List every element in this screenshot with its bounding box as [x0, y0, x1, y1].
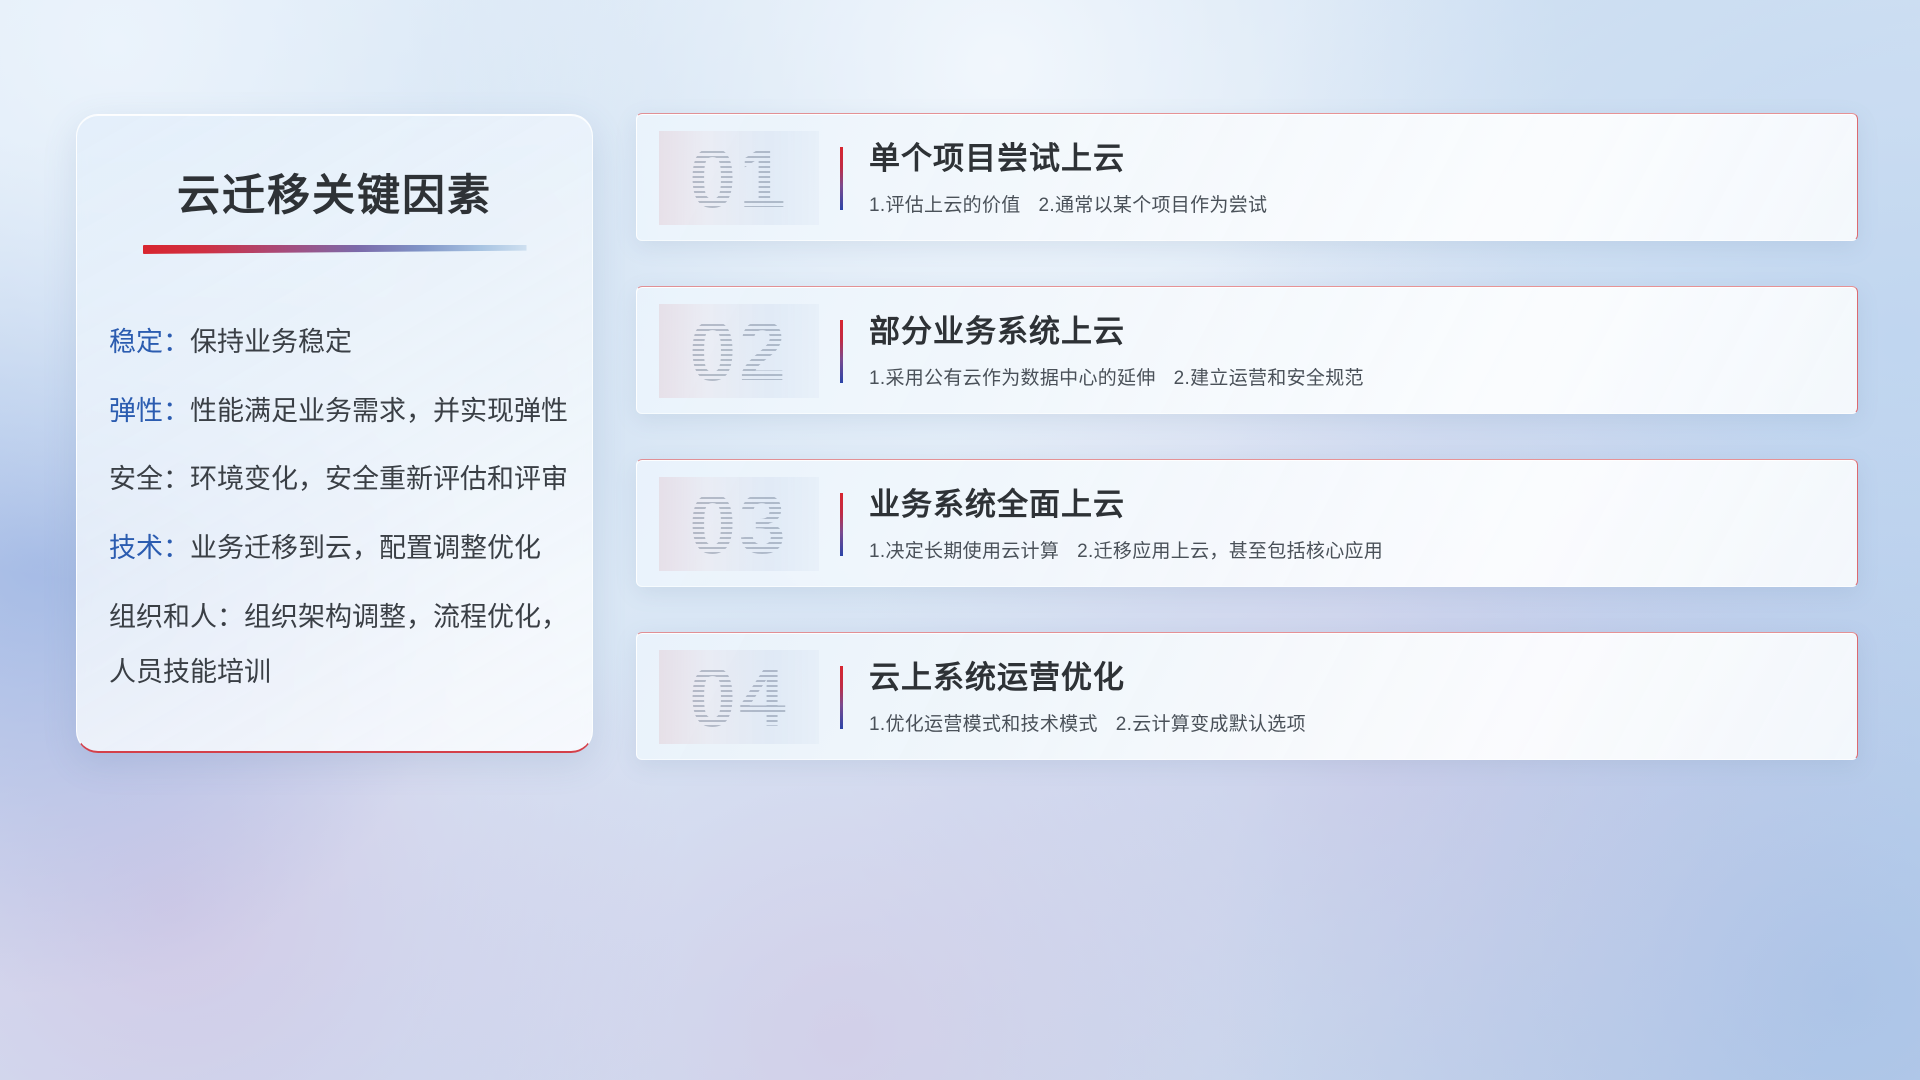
stage-point-1: 1.评估上云的价值 — [869, 195, 1021, 216]
stage-number: 03 — [659, 477, 819, 571]
list-item: 安全：环境变化，安全重新评估和评审 — [109, 465, 592, 495]
stage-number: 01 — [659, 131, 819, 225]
list-item: 稳定：保持业务稳定 — [109, 328, 592, 358]
divider-bar — [840, 493, 843, 556]
factor-label: 安全： — [109, 464, 190, 494]
stage-title: 部分业务系统上云 — [869, 313, 1833, 350]
factor-text: 人员技能培训 — [109, 657, 271, 687]
list-item: 人员技能培训 — [109, 658, 592, 688]
stage-points: 1.决定长期使用云计算2.迁移应用上云，甚至包括核心应用 — [869, 536, 1833, 563]
title-gradient-rule — [143, 245, 527, 254]
stage-cards: 01 单个项目尝试上云 1.评估上云的价值2.通常以某个项目作为尝试 02 部分… — [636, 113, 1858, 760]
stage-point-1: 1.优化运营模式和技术模式 — [869, 714, 1098, 735]
factors-list: 稳定：保持业务稳定 弹性：性能满足业务需求，并实现弹性 安全：环境变化，安全重新… — [109, 328, 592, 688]
stage-card[interactable]: 02 部分业务系统上云 1.采用公有云作为数据中心的延伸2.建立运营和安全规范 — [636, 286, 1858, 414]
factor-text: 业务迁移到云，配置调整优化 — [190, 533, 541, 563]
stage-card[interactable]: 01 单个项目尝试上云 1.评估上云的价值2.通常以某个项目作为尝试 — [636, 113, 1858, 241]
stage-number: 04 — [659, 650, 819, 744]
stage-point-1: 1.采用公有云作为数据中心的延伸 — [869, 368, 1156, 389]
factor-text: 保持业务稳定 — [190, 327, 352, 357]
factor-label: 技术： — [109, 533, 190, 563]
divider-bar — [840, 666, 843, 729]
stage-point-1: 1.决定长期使用云计算 — [869, 541, 1059, 562]
list-item: 技术：业务迁移到云，配置调整优化 — [109, 534, 592, 564]
stage-body: 业务系统全面上云 1.决定长期使用云计算2.迁移应用上云，甚至包括核心应用 — [869, 486, 1833, 563]
stage-point-2: 2.云计算变成默认选项 — [1116, 714, 1306, 735]
stage-points: 1.采用公有云作为数据中心的延伸2.建立运营和安全规范 — [869, 363, 1833, 390]
list-item: 组织和人：组织架构调整，流程优化， — [109, 603, 592, 633]
stage-body: 部分业务系统上云 1.采用公有云作为数据中心的延伸2.建立运营和安全规范 — [869, 313, 1833, 390]
stage-point-2: 2.迁移应用上云，甚至包括核心应用 — [1077, 541, 1383, 562]
stage-number: 02 — [659, 304, 819, 398]
stage-points: 1.优化运营模式和技术模式2.云计算变成默认选项 — [869, 709, 1833, 736]
page-title: 云迁移关键因素 — [77, 161, 592, 223]
stage-title: 单个项目尝试上云 — [869, 140, 1833, 177]
factor-label: 稳定： — [109, 327, 190, 357]
stage-title: 业务系统全面上云 — [869, 486, 1833, 523]
factor-text: 性能满足业务需求，并实现弹性 — [190, 396, 568, 426]
stage-body: 单个项目尝试上云 1.评估上云的价值2.通常以某个项目作为尝试 — [869, 140, 1833, 217]
divider-bar — [840, 147, 843, 210]
key-factors-panel: 云迁移关键因素 稳定：保持业务稳定 弹性：性能满足业务需求，并实现弹性 安全：环… — [76, 114, 593, 753]
stage-body: 云上系统运营优化 1.优化运营模式和技术模式2.云计算变成默认选项 — [869, 659, 1833, 736]
factor-text: 环境变化，安全重新评估和评审 — [190, 464, 568, 494]
stage-title: 云上系统运营优化 — [869, 659, 1833, 696]
stage-card[interactable]: 03 业务系统全面上云 1.决定长期使用云计算2.迁移应用上云，甚至包括核心应用 — [636, 459, 1858, 587]
factor-label: 弹性： — [109, 396, 190, 426]
stage-point-2: 2.建立运营和安全规范 — [1174, 368, 1364, 389]
factor-label: 组织和人： — [109, 602, 244, 632]
stage-points: 1.评估上云的价值2.通常以某个项目作为尝试 — [869, 190, 1833, 217]
factor-text: 组织架构调整，流程优化， — [244, 602, 568, 632]
list-item: 弹性：性能满足业务需求，并实现弹性 — [109, 397, 592, 427]
stage-point-2: 2.通常以某个项目作为尝试 — [1039, 195, 1268, 216]
divider-bar — [840, 320, 843, 383]
stage-card[interactable]: 04 云上系统运营优化 1.优化运营模式和技术模式2.云计算变成默认选项 — [636, 632, 1858, 760]
